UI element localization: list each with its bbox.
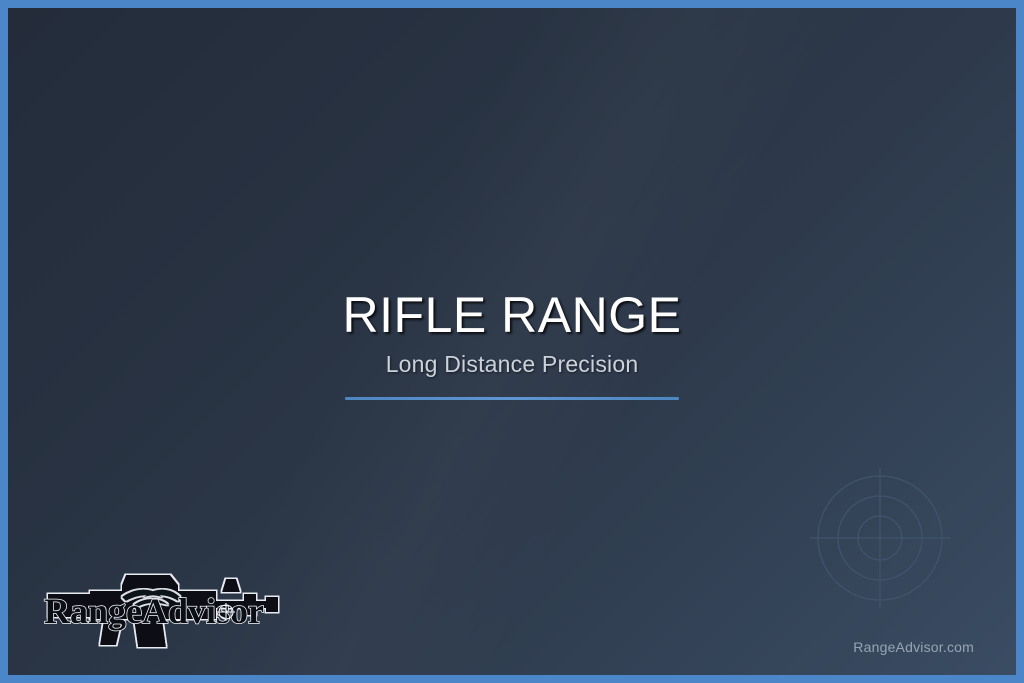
logo-wordmark: RangeAdvisor [44, 591, 264, 631]
site-watermark: RangeAdvisor.com [853, 639, 974, 655]
presentation-slide: RIFLE RANGE Long Distance Precision Rang… [0, 0, 1024, 683]
page-subtitle: Long Distance Precision [8, 351, 1016, 379]
crosshair-target-icon [810, 468, 950, 608]
page-title: RIFLE RANGE [8, 289, 1016, 342]
accent-divider [345, 397, 679, 400]
rifle-logo-icon: RangeAdvisor [30, 561, 280, 653]
title-block: RIFLE RANGE Long Distance Precision [8, 289, 1016, 400]
